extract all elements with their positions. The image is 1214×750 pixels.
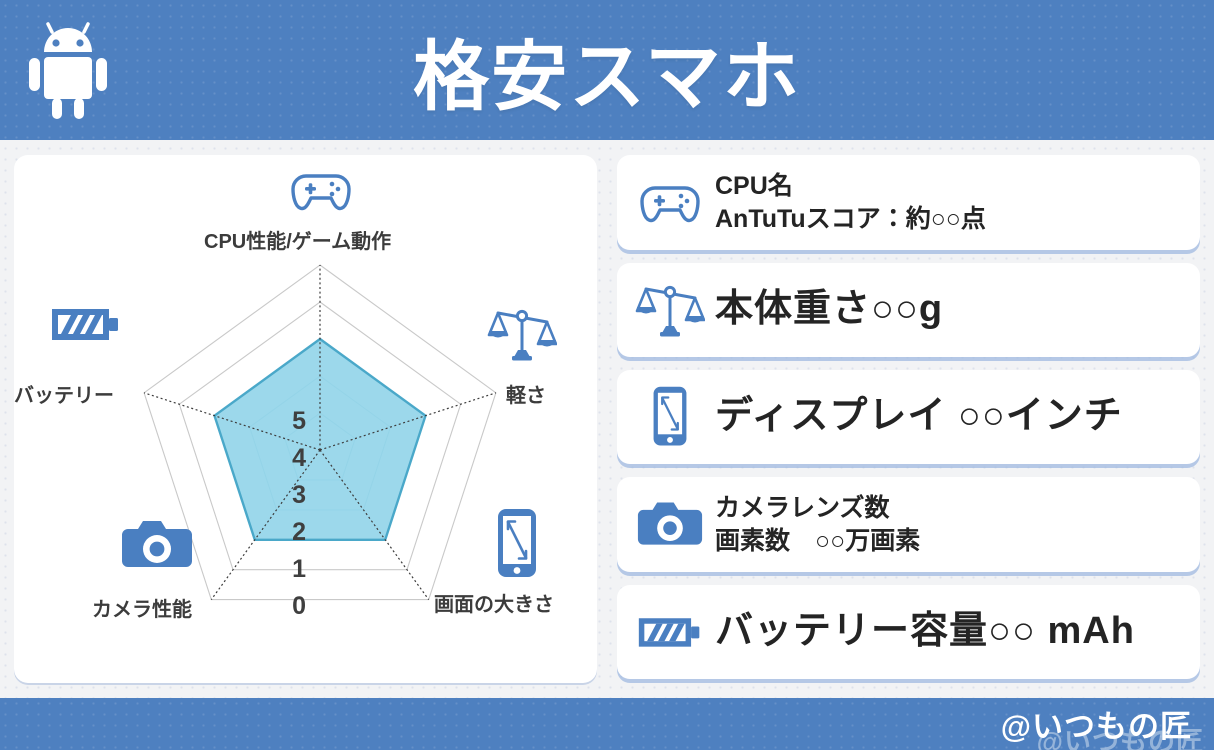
spec-row-camera[interactable]: カメラレンズ数 画素数 ○○万画素 [617, 477, 1200, 572]
spec-list: CPU名 AnTuTuスコア：約○○点 本体重さ○○g [617, 155, 1200, 683]
spec-row-weight[interactable]: 本体重さ○○g [617, 263, 1200, 357]
radar-tick-3: 3 [276, 481, 306, 510]
radar-tick-2: 2 [276, 518, 306, 547]
spec-icon-wrapper-weight [631, 279, 709, 341]
spec-icon-wrapper-camera [631, 494, 709, 556]
radar-axis-label-cpu: CPU性能/ゲーム動作 [204, 225, 391, 254]
gamepad-icon [290, 167, 352, 215]
spec-icon-wrapper-cpu [631, 172, 709, 234]
spec-icon-wrapper-battery [631, 601, 709, 663]
battery-icon [50, 300, 122, 348]
radar-axis-label-camera: カメラ性能 [92, 593, 192, 622]
spec-row-cpu[interactable]: CPU名 AnTuTuスコア：約○○点 [617, 155, 1200, 250]
radar-tick-4: 4 [276, 444, 306, 473]
gamepad-icon [639, 179, 701, 227]
page-footer: @いつもの匠 @いつもの匠 [0, 698, 1214, 750]
page-header: 格安スマホ [0, 0, 1214, 140]
radar-tick-0: 0 [276, 592, 306, 621]
spec-text-cpu: CPU名 AnTuTuスコア：約○○点 [715, 170, 986, 235]
radar-axis-label-screen: 画面の大きさ [434, 588, 554, 617]
spec-row-display[interactable]: ディスプレイ ○○インチ [617, 370, 1200, 464]
spec-line-battery: バッテリー容量○○ mAh [715, 607, 1135, 656]
radar-tick-1: 1 [276, 555, 306, 584]
radar-chart-card: 5 4 3 2 1 0 CPU性能/ゲーム動作 軽さ [14, 155, 597, 683]
smartphone-display-icon [494, 507, 540, 581]
page-title: 格安スマホ [0, 0, 1214, 140]
spec-line-cpu-name: CPU名 [715, 170, 986, 203]
smartphone-display-icon [650, 385, 690, 449]
spec-line-display: ディスプレイ ○○インチ [715, 392, 1123, 441]
camera-icon [119, 515, 195, 575]
spec-line-cpu-score: AnTuTuスコア：約○○点 [715, 203, 986, 236]
spec-line-camera-lens: カメラレンズ数 [715, 492, 920, 525]
spec-text-display: ディスプレイ ○○インチ [715, 392, 1123, 441]
spec-line-weight: 本体重さ○○g [715, 285, 943, 334]
balance-scale-icon [487, 301, 557, 367]
radar-axis-label-lightness: 軽さ [506, 379, 546, 408]
spec-icon-wrapper-display [631, 386, 709, 448]
radar-tick-5: 5 [276, 407, 306, 436]
battery-icon [637, 610, 703, 654]
balance-scale-icon [635, 277, 705, 343]
spec-text-camera: カメラレンズ数 画素数 ○○万画素 [715, 492, 920, 557]
radar-axis-label-battery: バッテリー [14, 379, 114, 408]
spec-row-battery[interactable]: バッテリー容量○○ mAh [617, 585, 1200, 679]
spec-text-weight: 本体重さ○○g [715, 285, 943, 334]
author-watermark: @いつもの匠 [1037, 720, 1204, 750]
spec-text-battery: バッテリー容量○○ mAh [715, 607, 1135, 656]
camera-icon [635, 497, 705, 552]
spec-line-camera-pixels: 画素数 ○○万画素 [715, 525, 920, 558]
